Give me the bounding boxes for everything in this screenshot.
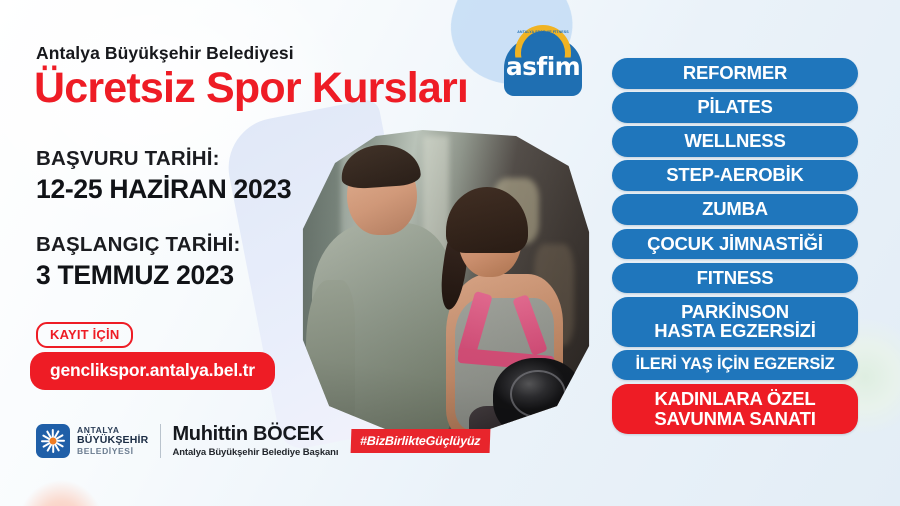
course-item[interactable]: FITNESS bbox=[612, 263, 858, 294]
start-date-value: 3 TEMMUZ 2023 bbox=[36, 259, 241, 291]
course-item[interactable]: STEP-AEROBİK bbox=[612, 160, 858, 191]
application-date-block: BAŞVURU TARİHİ: 12-25 HAZİRAN 2023 bbox=[36, 147, 291, 205]
application-date-label: BAŞVURU TARİHİ: bbox=[36, 147, 291, 172]
course-item[interactable]: WELLNESS bbox=[612, 126, 858, 157]
organization-name: Antalya Büyükşehir Belediyesi bbox=[36, 43, 294, 64]
sunburst-core bbox=[50, 438, 57, 445]
start-date-label: BAŞLANGIÇ TARİHİ: bbox=[36, 233, 241, 258]
start-date-block: BAŞLANGIÇ TARİHİ: 3 TEMMUZ 2023 bbox=[36, 233, 241, 291]
municipality-line-3: BELEDİYESİ bbox=[77, 447, 148, 456]
course-item[interactable]: REFORMER bbox=[612, 58, 858, 89]
course-item[interactable]: ZUMBA bbox=[612, 194, 858, 225]
registration-badge: KAYIT İÇİN bbox=[36, 322, 133, 348]
course-list: REFORMERPİLATESWELLNESSSTEP-AEROBİKZUMBA… bbox=[612, 58, 858, 438]
municipality-logo-mark bbox=[36, 424, 70, 458]
mayor-title: Antalya Büyükşehir Belediye Başkanı bbox=[172, 447, 338, 458]
mayor-name: Muhittin BÖCEK bbox=[172, 424, 338, 445]
footer-divider bbox=[160, 424, 161, 458]
municipality-logo-text: ANTALYA BÜYÜKŞEHİR BELEDİYESİ bbox=[77, 426, 148, 456]
footer: ANTALYA BÜYÜKŞEHİR BELEDİYESİ Muhittin B… bbox=[36, 424, 491, 458]
application-date-value: 12-25 HAZİRAN 2023 bbox=[36, 173, 291, 205]
course-item[interactable]: PARKİNSONHASTA EGZERSİZİ bbox=[612, 297, 858, 347]
municipality-line-2: BÜYÜKŞEHİR bbox=[77, 435, 148, 446]
sunburst-icon bbox=[40, 428, 66, 454]
poster-canvas: ANTALYA SPOR VE FİTNESS MERKEZLERİ asfim… bbox=[0, 0, 900, 506]
mayor-block: Muhittin BÖCEK Antalya Büyükşehir Beledi… bbox=[172, 424, 338, 458]
course-item[interactable]: PİLATES bbox=[612, 92, 858, 123]
course-item[interactable]: ÇOCUK JİMNASTİĞİ bbox=[612, 229, 858, 260]
course-item[interactable]: İLERİ YAŞ İÇİN EGZERSİZ bbox=[612, 350, 858, 380]
campaign-hashtag: #BizBirlikteGüçlüyüz bbox=[351, 429, 491, 453]
registration-url-button[interactable]: genclikspor.antalya.bel.tr bbox=[30, 352, 275, 390]
course-item[interactable]: KADINLARA ÖZELSAVUNMA SANATI bbox=[612, 384, 858, 434]
page-title: Ücretsiz Spor Kursları bbox=[34, 66, 468, 111]
